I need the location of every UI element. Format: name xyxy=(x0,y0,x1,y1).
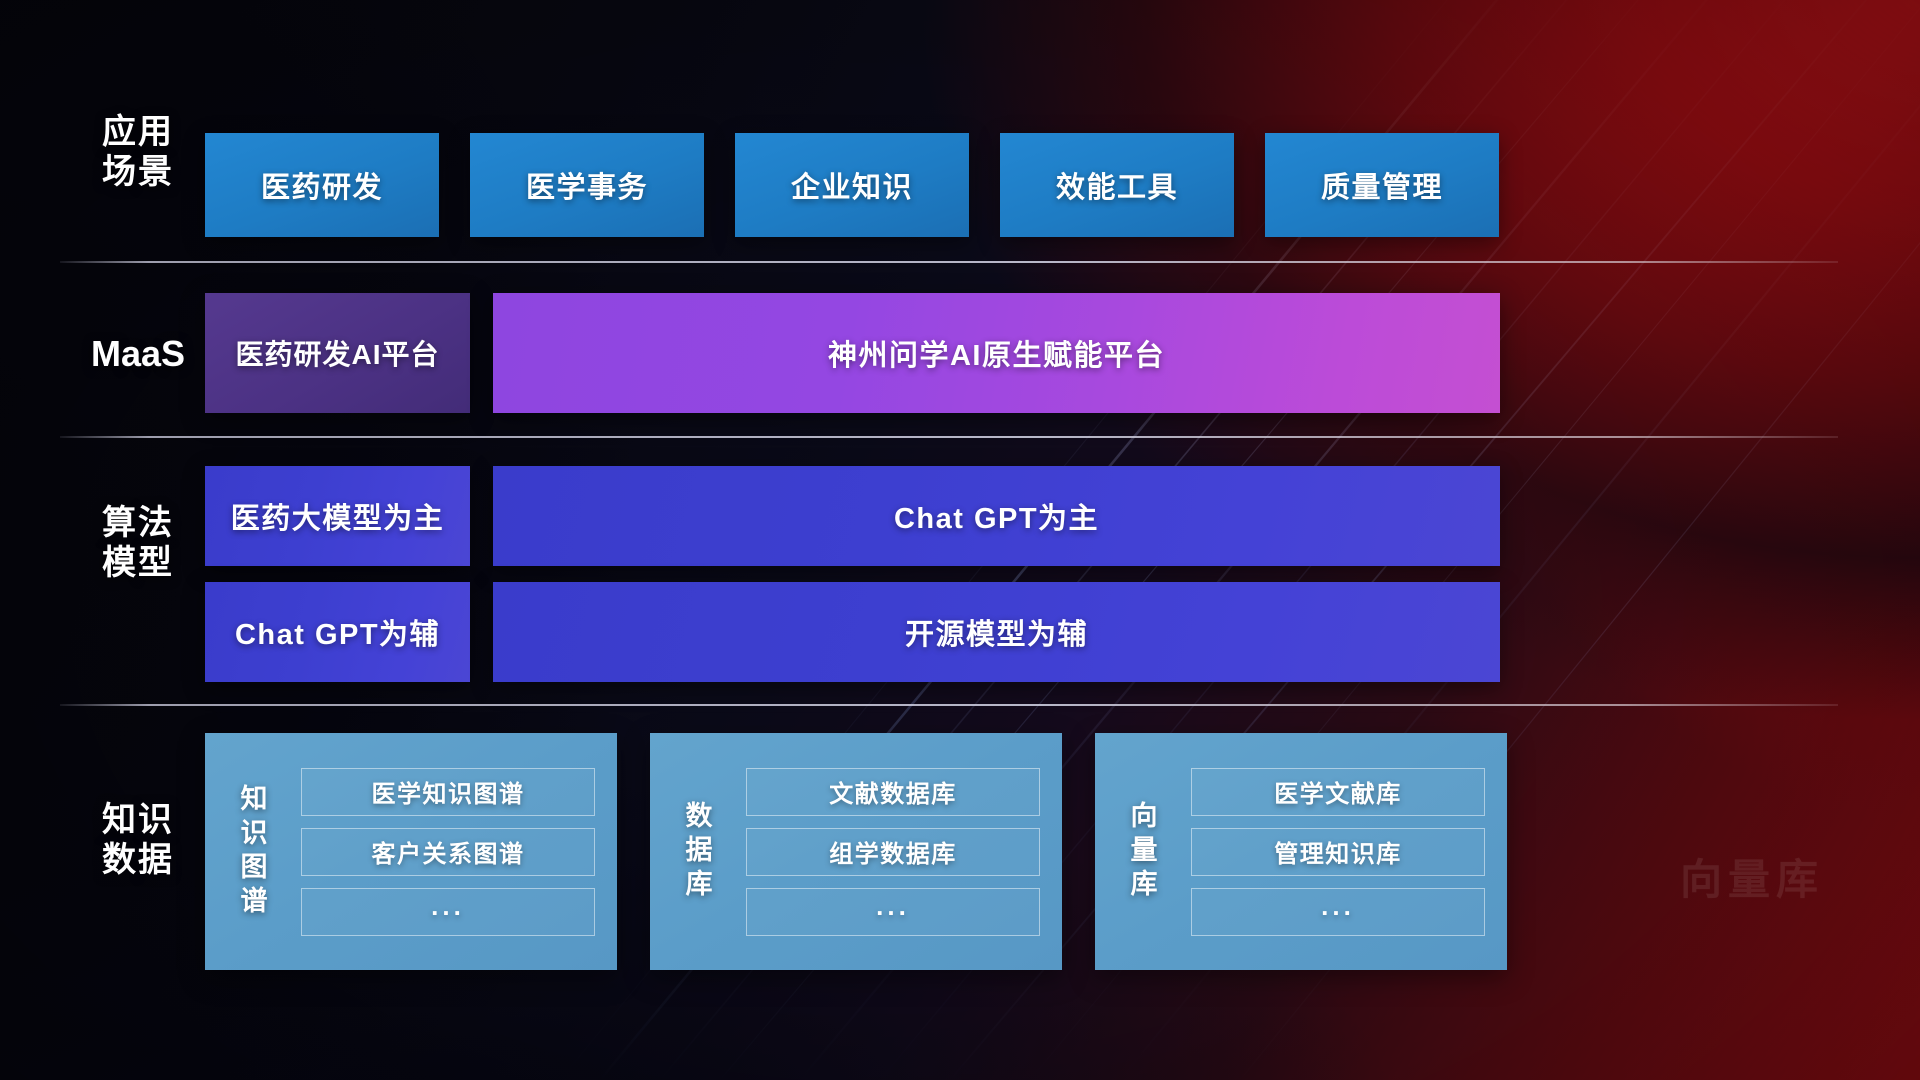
knowledge-item-customer-relation-graph[interactable]: 客户关系图谱 xyxy=(301,828,595,876)
knowledge-item-literature-database[interactable]: 文献数据库 xyxy=(746,768,1040,816)
knowledge-item-omics-database[interactable]: 组学数据库 xyxy=(746,828,1040,876)
app-box-label: 医药研发 xyxy=(261,164,383,206)
knowledge-item-label: 医学文献库 xyxy=(1274,774,1402,809)
row-label-knowledge-data: 知识 数据 xyxy=(58,800,218,880)
knowledge-item-label: 客户关系图谱 xyxy=(372,834,525,869)
knowledge-group-item-list: 医学知识图谱 客户关系图谱 ... xyxy=(297,733,617,970)
knowledge-group-vector-store: 向量库 医学文献库 管理知识库 ... xyxy=(1095,733,1507,970)
app-box-label: 质量管理 xyxy=(1321,164,1443,206)
architecture-diagram: 应用 场景 医药研发 医学事务 企业知识 效能工具 质量管理 MaaS 医药研发… xyxy=(0,0,1920,1080)
row-label-line-2: 场景 xyxy=(58,152,218,192)
algo-box-label: Chat GPT为辅 xyxy=(235,611,440,653)
knowledge-group-title: 数据库 xyxy=(650,733,742,970)
knowledge-group-title: 向量库 xyxy=(1095,733,1187,970)
row-label-algorithm-model: 算法 模型 xyxy=(58,503,218,583)
knowledge-item-label: ... xyxy=(1321,891,1355,922)
algo-box-opensource-secondary[interactable]: 开源模型为辅 xyxy=(493,582,1500,682)
knowledge-item-medical-literature-store[interactable]: 医学文献库 xyxy=(1191,768,1485,816)
divider-3 xyxy=(60,704,1838,706)
maas-box-label: 神州问学AI原生赋能平台 xyxy=(828,332,1165,374)
app-box-medical-affairs[interactable]: 医学事务 xyxy=(470,133,704,237)
algo-box-pharma-llm-primary[interactable]: 医药大模型为主 xyxy=(205,466,470,566)
algo-box-label: 医药大模型为主 xyxy=(231,495,445,537)
knowledge-item-management-knowledge-store[interactable]: 管理知识库 xyxy=(1191,828,1485,876)
knowledge-item-label: ... xyxy=(876,891,910,922)
row-label-line-1: 应用 xyxy=(58,112,218,152)
algo-box-chatgpt-primary[interactable]: Chat GPT为主 xyxy=(493,466,1500,566)
watermark-text: 向量库 xyxy=(1680,846,1824,907)
app-box-label: 企业知识 xyxy=(791,164,913,206)
app-box-quality-management[interactable]: 质量管理 xyxy=(1265,133,1499,237)
row-label-line-2: 数据 xyxy=(58,840,218,880)
algo-box-label: Chat GPT为主 xyxy=(894,495,1099,537)
maas-box-drug-rd-ai-platform[interactable]: 医药研发AI平台 xyxy=(205,293,470,413)
knowledge-item-more[interactable]: ... xyxy=(301,888,595,936)
row-label-maas: MaaS xyxy=(58,333,218,375)
row-label-line-1: 算法 xyxy=(58,503,218,543)
knowledge-item-label: 医学知识图谱 xyxy=(372,774,525,809)
knowledge-group-item-list: 文献数据库 组学数据库 ... xyxy=(742,733,1062,970)
knowledge-item-label: ... xyxy=(431,891,465,922)
divider-2 xyxy=(60,436,1838,438)
row-label-text: MaaS xyxy=(58,333,218,375)
maas-box-shenzhou-wenxue-platform[interactable]: 神州问学AI原生赋能平台 xyxy=(493,293,1500,413)
knowledge-group-knowledge-graph: 知识图谱 医学知识图谱 客户关系图谱 ... xyxy=(205,733,617,970)
row-label-line-2: 模型 xyxy=(58,543,218,583)
app-box-label: 效能工具 xyxy=(1056,164,1178,206)
knowledge-item-more[interactable]: ... xyxy=(1191,888,1485,936)
knowledge-item-label: 组学数据库 xyxy=(829,834,957,869)
app-box-drug-rd[interactable]: 医药研发 xyxy=(205,133,439,237)
app-box-label: 医学事务 xyxy=(526,164,648,206)
knowledge-item-label: 管理知识库 xyxy=(1274,834,1402,869)
maas-box-label: 医药研发AI平台 xyxy=(235,333,439,373)
knowledge-group-item-list: 医学文献库 管理知识库 ... xyxy=(1187,733,1507,970)
knowledge-item-more[interactable]: ... xyxy=(746,888,1040,936)
row-label-line-1: 知识 xyxy=(58,800,218,840)
knowledge-item-label: 文献数据库 xyxy=(829,774,957,809)
knowledge-item-medical-knowledge-graph[interactable]: 医学知识图谱 xyxy=(301,768,595,816)
divider-1 xyxy=(60,261,1838,263)
knowledge-group-database: 数据库 文献数据库 组学数据库 ... xyxy=(650,733,1062,970)
app-box-efficiency-tools[interactable]: 效能工具 xyxy=(1000,133,1234,237)
algo-box-label: 开源模型为辅 xyxy=(905,611,1088,653)
algo-box-chatgpt-secondary[interactable]: Chat GPT为辅 xyxy=(205,582,470,682)
row-label-application-scenarios: 应用 场景 xyxy=(58,112,218,192)
app-box-enterprise-knowledge[interactable]: 企业知识 xyxy=(735,133,969,237)
knowledge-group-title: 知识图谱 xyxy=(205,733,297,970)
